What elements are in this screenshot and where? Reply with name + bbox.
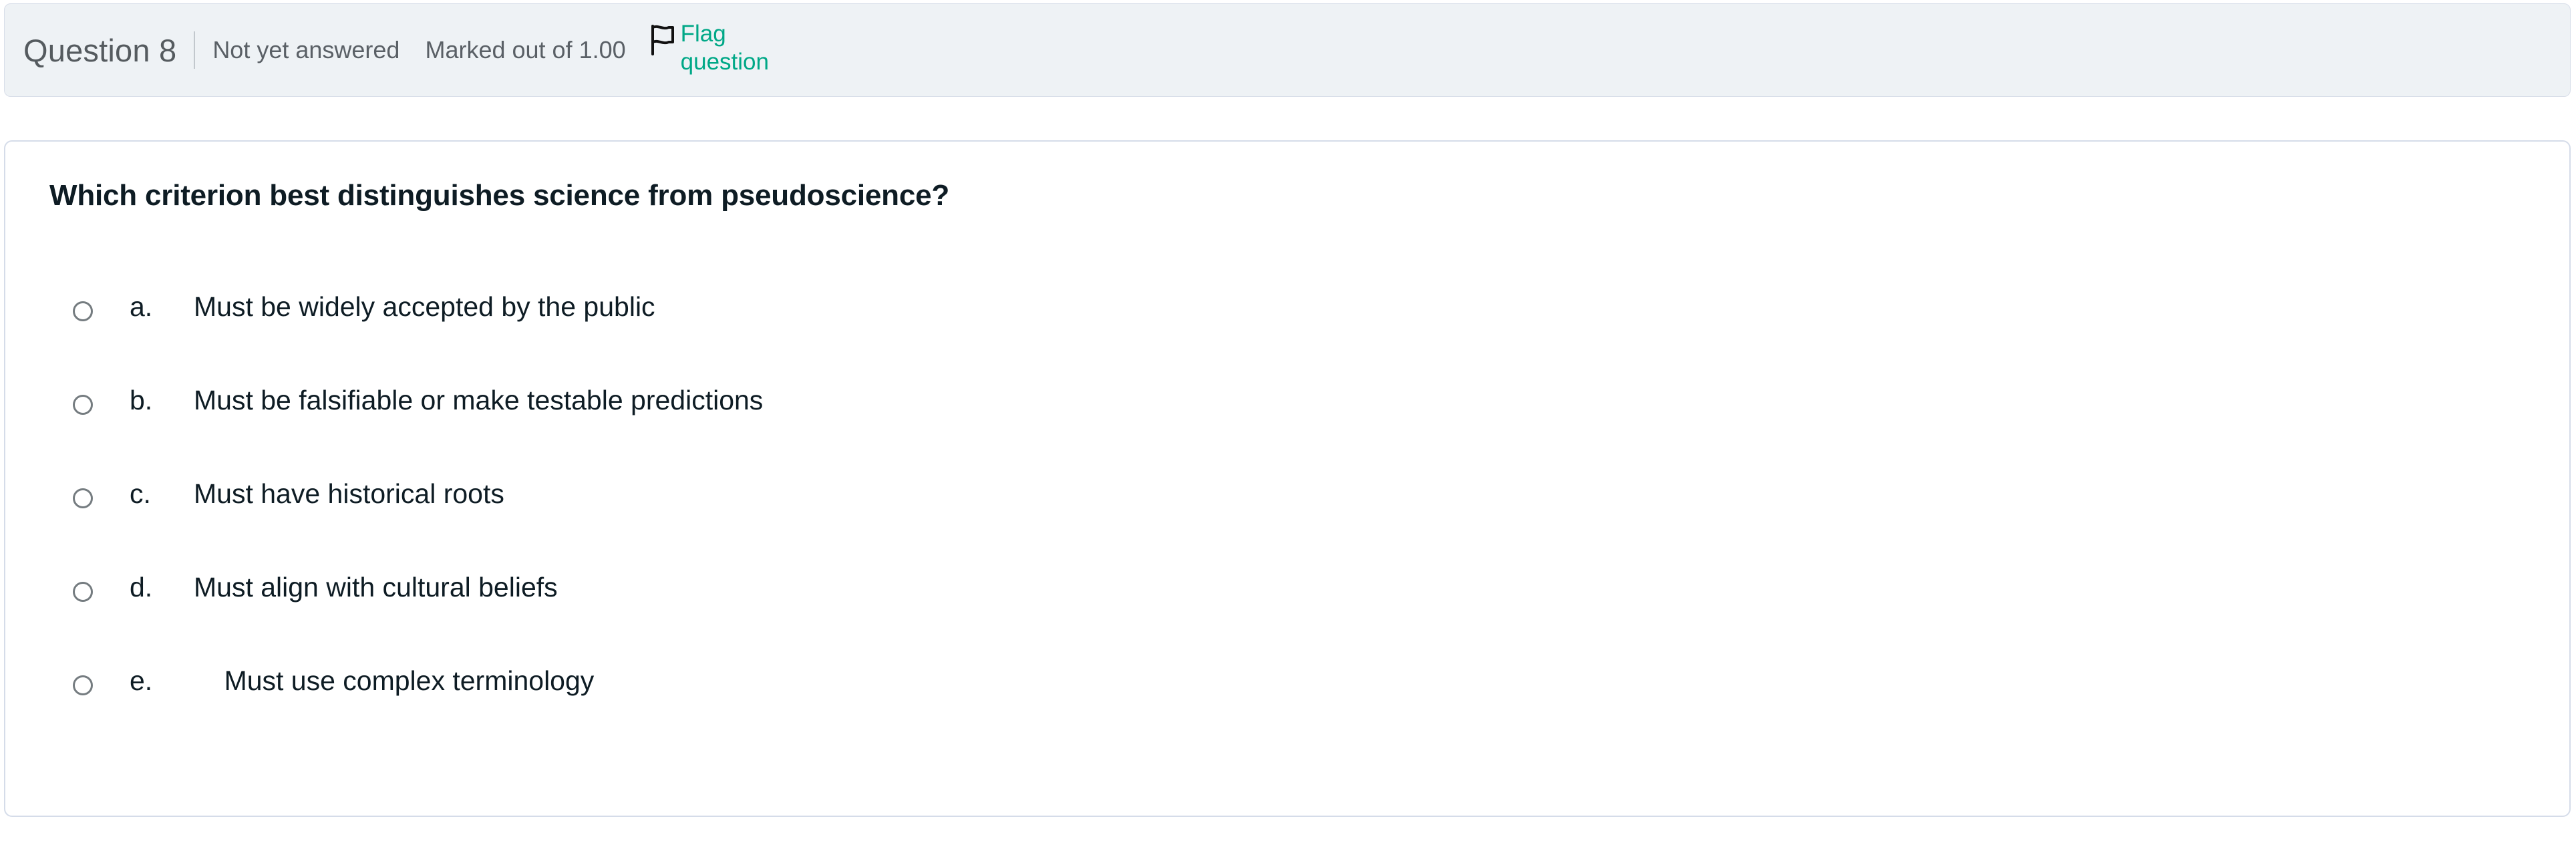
- radio-button-e[interactable]: [73, 675, 93, 695]
- header-divider: [194, 31, 195, 69]
- answer-option-e[interactable]: e. Must use complex terminology: [5, 659, 2569, 752]
- answer-letter-a: a.: [130, 285, 152, 329]
- radio-button-b[interactable]: [73, 395, 93, 415]
- answer-text-e: Must use complex terminology: [194, 659, 594, 703]
- question-text: Which criterion best distinguishes scien…: [49, 179, 949, 212]
- answer-text-b: Must be falsifiable or make testable pre…: [194, 378, 763, 422]
- answer-letter-c: c.: [130, 472, 151, 516]
- answer-text-a: Must be widely accepted by the public: [194, 285, 655, 329]
- answer-options-list: a. Must be widely accepted by the public…: [5, 285, 2569, 752]
- answer-option-b[interactable]: b. Must be falsifiable or make testable …: [5, 378, 2569, 472]
- radio-button-a[interactable]: [73, 301, 93, 321]
- answer-letter-e: e.: [130, 659, 152, 703]
- answer-text-c: Must have historical roots: [194, 472, 504, 516]
- flag-question-button[interactable]: Flag question: [650, 20, 808, 76]
- question-header-bar: Question 8 Not yet answered Marked out o…: [4, 3, 2571, 97]
- radio-button-c[interactable]: [73, 488, 93, 508]
- answer-letter-b: b.: [130, 378, 152, 422]
- question-body-panel: Which criterion best distinguishes scien…: [4, 140, 2571, 817]
- question-grade-label: Marked out of 1.00: [425, 36, 625, 64]
- answer-option-a[interactable]: a. Must be widely accepted by the public: [5, 285, 2569, 378]
- answer-option-c[interactable]: c. Must have historical roots: [5, 472, 2569, 565]
- flag-question-label: Flag question: [681, 20, 808, 76]
- answer-letter-d: d.: [130, 565, 152, 609]
- question-number-label: Question 8: [23, 32, 176, 69]
- flag-icon: [650, 24, 677, 56]
- answer-text-d: Must align with cultural beliefs: [194, 565, 558, 609]
- radio-button-d[interactable]: [73, 582, 93, 602]
- answer-option-d[interactable]: d. Must align with cultural beliefs: [5, 565, 2569, 659]
- question-state-label: Not yet answered: [212, 36, 399, 64]
- quiz-question-page: Question 8 Not yet answered Marked out o…: [0, 0, 2576, 855]
